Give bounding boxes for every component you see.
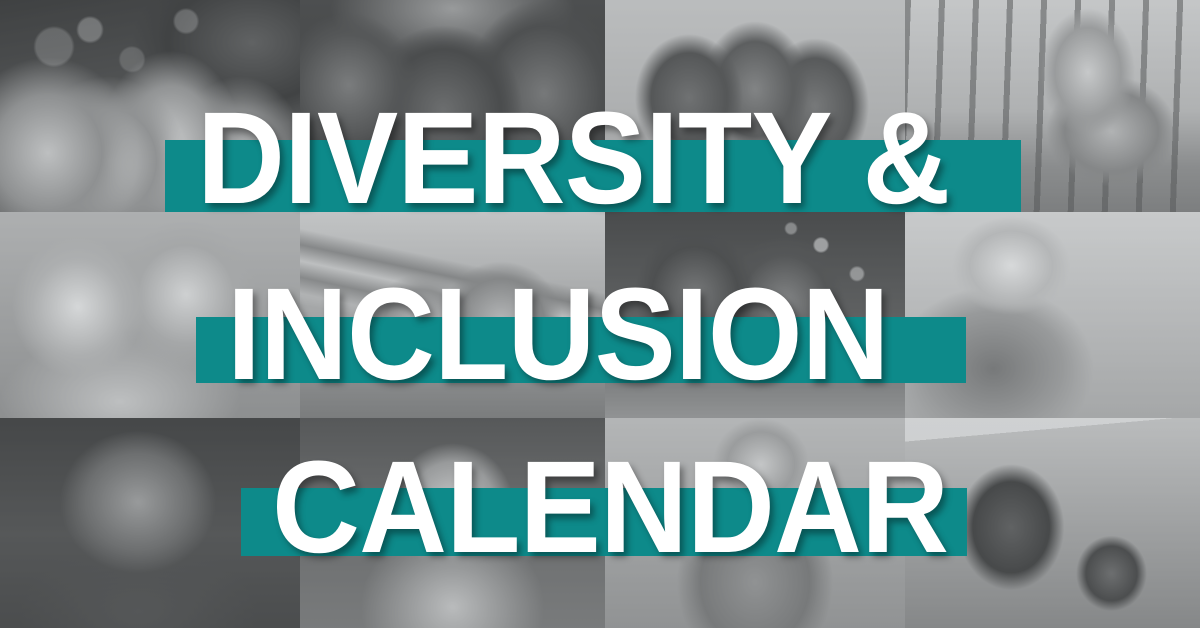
headline-line-1: DIVERSITY & bbox=[197, 92, 950, 223]
headline-line-2: INCLUSION bbox=[227, 268, 889, 399]
poster-banner: DIVERSITY & INCLUSION CALENDAR bbox=[0, 0, 1200, 628]
headline-group: DIVERSITY & INCLUSION CALENDAR bbox=[0, 0, 1200, 628]
headline-line-3: CALENDAR bbox=[272, 441, 948, 572]
